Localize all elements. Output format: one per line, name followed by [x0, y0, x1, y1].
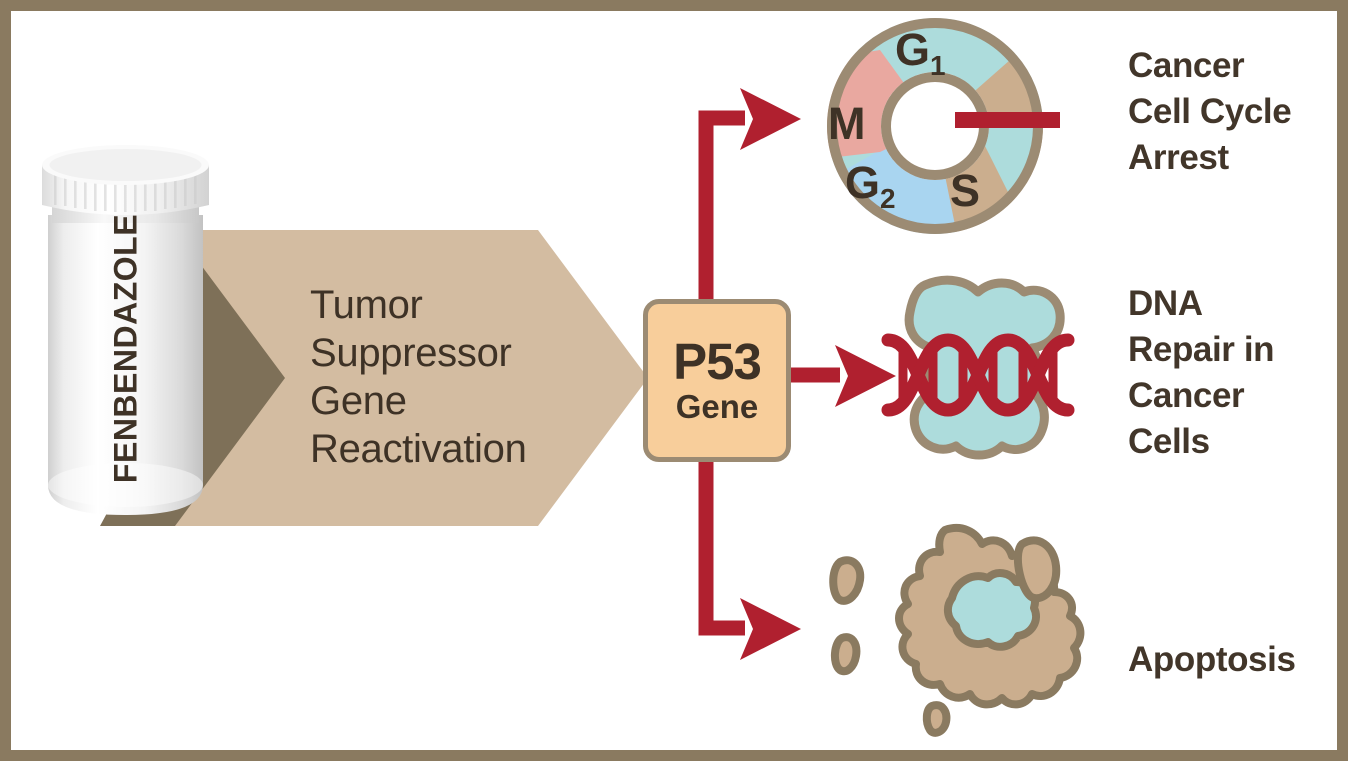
- outcome-label-line: Apoptosis: [1128, 637, 1343, 683]
- outcome-label-dna-repair: DNA Repair in Cancer Cells: [1128, 281, 1343, 465]
- outcome-label-line: Cancer: [1128, 373, 1343, 419]
- outcome-label-line: Cells: [1128, 419, 1343, 465]
- outcome-label-line: Arrest: [1128, 135, 1343, 181]
- apoptotic-bleb-bottom: [927, 705, 947, 733]
- outcome-label-line: Repair in: [1128, 327, 1343, 373]
- apoptotic-bleb-right: [1018, 540, 1056, 598]
- outcome-label-line: Cell Cycle: [1128, 89, 1343, 135]
- outcome-label-cell-cycle-arrest: Cancer Cell Cycle Arrest: [1128, 43, 1343, 181]
- apoptotic-bleb-left-lower: [835, 637, 856, 671]
- outcome-label-line: Cancer: [1128, 43, 1343, 89]
- outcome-label-apoptosis: Apoptosis: [1128, 637, 1343, 683]
- diagram-canvas: Tumor Suppressor Gene Reactivation: [0, 0, 1348, 761]
- apoptotic-bleb-left-upper: [833, 560, 860, 601]
- outcome-label-line: DNA: [1128, 281, 1343, 327]
